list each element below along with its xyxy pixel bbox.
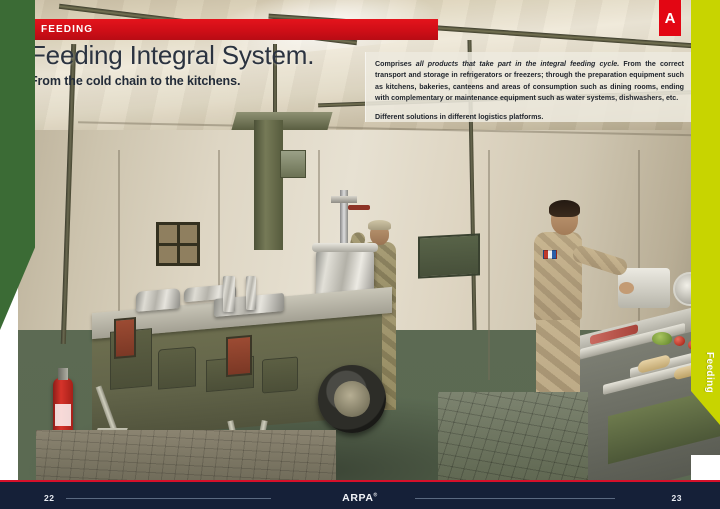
description-paragraph-2: Different solutions in different logisti… <box>375 112 684 123</box>
soldier-foreground-torso <box>534 232 582 320</box>
trailer-red-hatch <box>114 317 136 359</box>
tent-floor-grid <box>438 392 588 480</box>
description-card: Comprises all products that take part in… <box>365 52 693 122</box>
left-page-margin <box>0 326 18 480</box>
lettuce <box>652 332 672 345</box>
corner-logo-tab[interactable]: A <box>659 0 681 36</box>
description-lead: Comprises <box>375 60 416 68</box>
page-number-right: 23 <box>672 493 682 503</box>
soldier-background-cap <box>368 220 391 230</box>
section-kicker-banner: FEEDING <box>28 19 438 40</box>
trailer-access-panel <box>158 346 196 389</box>
description-emphasis: all products that take part in the integ… <box>416 60 619 68</box>
brand-name: ARPA <box>342 492 373 504</box>
trailer-storage-panel <box>262 356 298 393</box>
tent-seam <box>118 150 120 330</box>
tent-window-flap <box>156 222 200 266</box>
uniform-flag-patch <box>543 250 557 259</box>
cooking-pot <box>136 288 180 312</box>
chimney-vent-box <box>280 150 306 178</box>
brand-registered-mark: ® <box>374 493 378 499</box>
corner-logo-letter: A <box>665 11 676 26</box>
soldier-foreground-hair <box>549 200 580 217</box>
kitchen-chimney <box>254 120 283 250</box>
kettle-red-handle <box>348 205 370 210</box>
section-tab-label: Feeding <box>704 352 715 393</box>
tent-vent-panel <box>418 233 480 278</box>
page-footer: 22 ARPA® 23 <box>0 480 720 509</box>
headline-block: Feeding Integral System. From the cold c… <box>30 42 314 88</box>
tent-seam <box>488 150 490 380</box>
steam-tray <box>246 276 256 310</box>
trailer-red-hatch <box>226 335 252 377</box>
tomato <box>674 336 685 346</box>
kettle-valve <box>331 196 357 203</box>
soldier-foreground-hand <box>619 282 634 294</box>
section-kicker-label: FEEDING <box>28 24 93 35</box>
page-subtitle: From the cold chain to the kitchens. <box>30 74 314 88</box>
magazine-spread: Feeding A FEEDING Feeding Integral Syste… <box>0 0 720 509</box>
description-paragraph-1: Comprises all products that take part in… <box>375 59 684 105</box>
steam-tray <box>223 276 235 312</box>
trailer-wheel <box>318 365 386 433</box>
fire-extinguisher-label <box>55 404 71 426</box>
cooking-kettle-lid <box>312 243 378 252</box>
footer-rule-right <box>415 498 615 499</box>
page-title: Feeding Integral System. <box>30 42 314 69</box>
tent-floor-matting <box>36 430 336 480</box>
right-page-margin <box>691 455 720 480</box>
